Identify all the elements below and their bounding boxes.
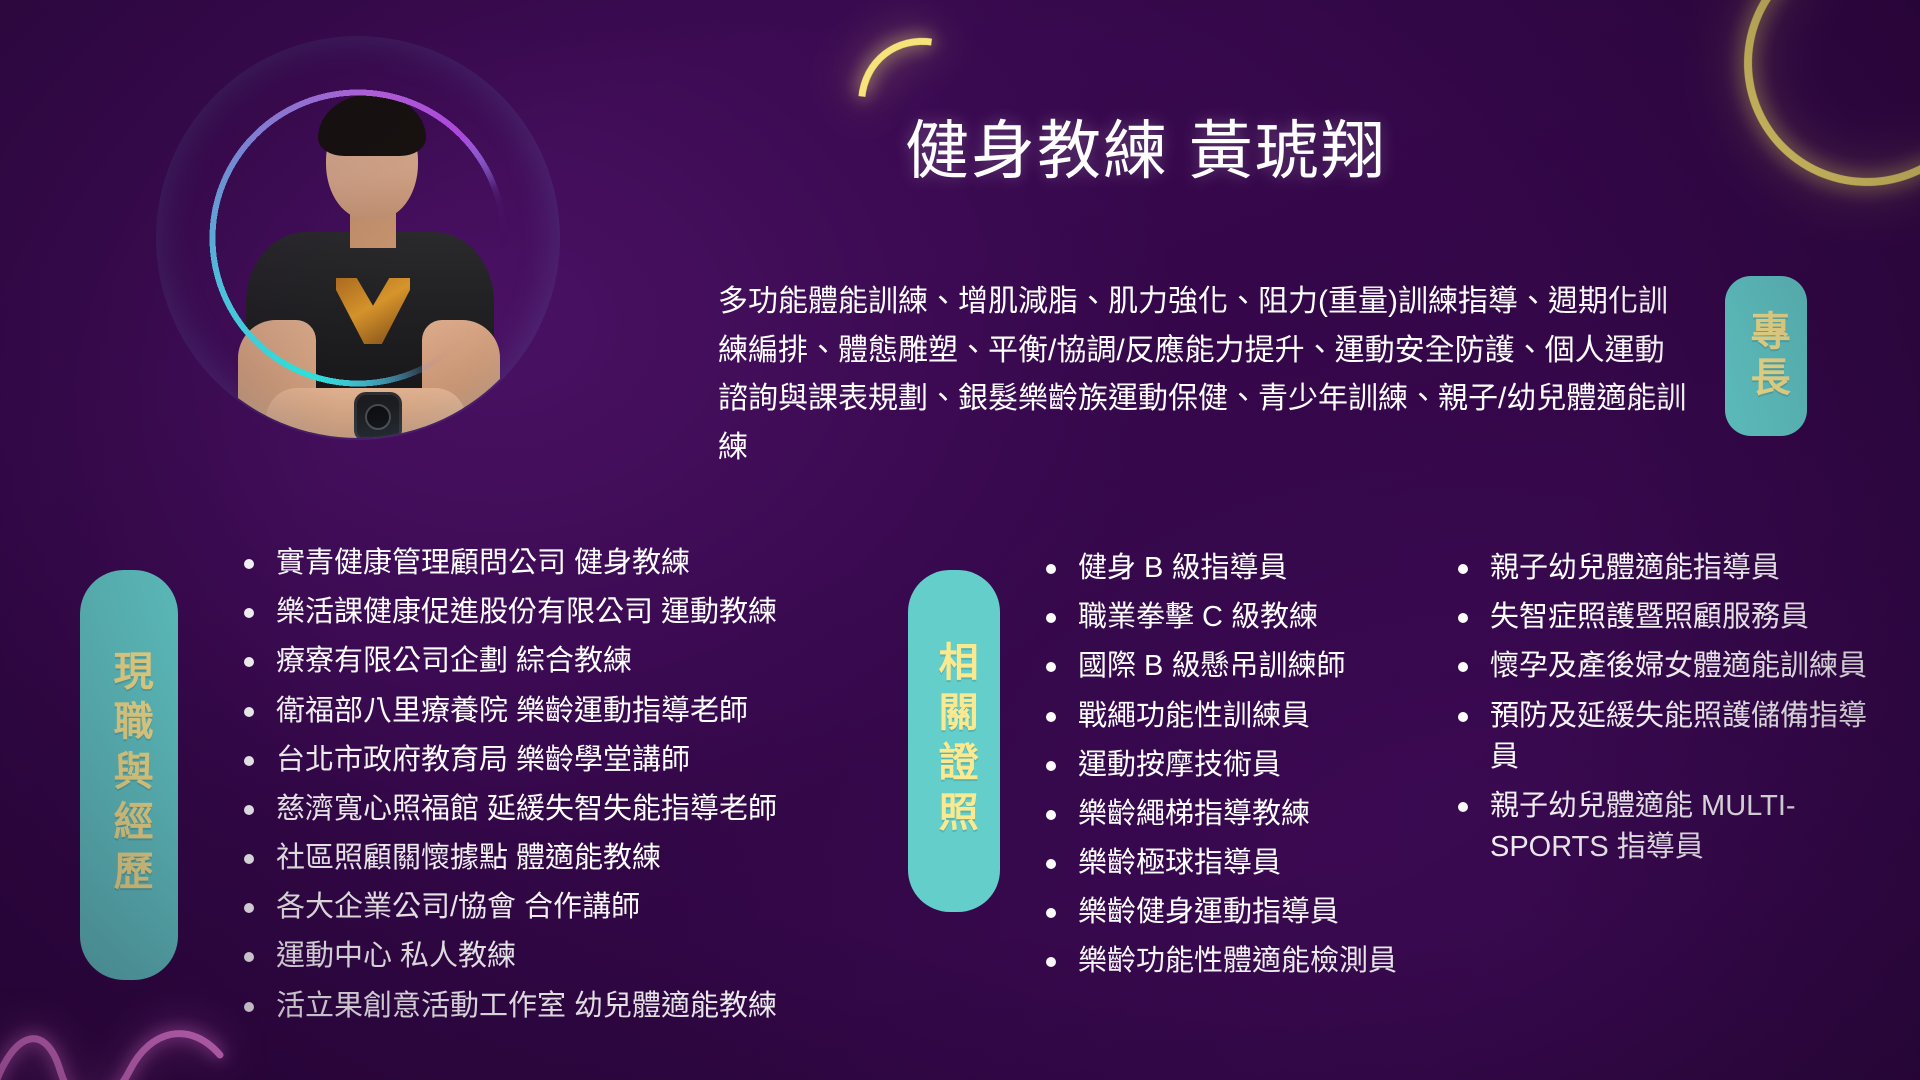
experience-list-item: 活立果創意活動工作室 幼兒體適能教練 — [270, 986, 920, 1027]
certification-list-item: 職業拳擊 C 級教練 — [1072, 597, 1472, 638]
badge-certifications: 相關證照 — [908, 570, 1000, 912]
badge-specialty: 專長 — [1725, 276, 1807, 436]
experience-list-item: 衛福部八里療養院 樂齡運動指導老師 — [270, 691, 920, 732]
certification-list-column-2: 親子幼兒體適能指導員失智症照護暨照顧服務員懷孕及產後婦女體適能訓練員預防及延緩失… — [1450, 548, 1884, 876]
ring-inner-glow — [156, 36, 560, 440]
certification-list-item: 親子幼兒體適能 MULTI-SPORTS 指導員 — [1484, 786, 1884, 868]
experience-list-item: 實青健康管理顧問公司 健身教練 — [270, 543, 920, 584]
experience-list-item: 各大企業公司/協會 合作講師 — [270, 887, 920, 928]
certification-list-item: 國際 B 級懸吊訓練師 — [1072, 646, 1472, 687]
experience-list-item: 慈濟寬心照福館 延緩失智失能指導老師 — [270, 789, 920, 830]
experience-list: 實青健康管理顧問公司 健身教練樂活課健康促進股份有限公司 運動教練療寮有限公司企… — [236, 543, 920, 1035]
coach-portrait — [148, 28, 568, 448]
certification-list-item: 樂齡健身運動指導員 — [1072, 892, 1472, 933]
badge-certifications-label: 相關證照 — [930, 641, 977, 841]
certification-list-item: 親子幼兒體適能指導員 — [1484, 548, 1884, 589]
experience-list-item: 台北市政府教育局 樂齡學堂講師 — [270, 740, 920, 781]
certification-list-item: 戰繩功能性訓練員 — [1072, 696, 1472, 737]
certification-list-item: 樂齡極球指導員 — [1072, 843, 1472, 884]
experience-list-item: 運動中心 私人教練 — [270, 936, 920, 977]
page-title: 健身教練 黃琥翔 — [905, 100, 1387, 192]
badge-specialty-label: 專長 — [1742, 310, 1789, 402]
experience-list-item: 樂活課健康促進股份有限公司 運動教練 — [270, 592, 920, 633]
certification-list-item: 樂齡繩梯指導教練 — [1072, 794, 1472, 835]
certification-list-column-1: 健身 B 級指導員職業拳擊 C 級教練國際 B 級懸吊訓練師戰繩功能性訓練員運動… — [1038, 548, 1472, 991]
profile-slide: 健身教練 黃琥翔 多功能體能訓練、增肌減脂、肌力強化、阻力(重量)訓練指導、週期… — [0, 0, 1920, 1080]
badge-experience: 現職與經歷 — [80, 570, 178, 980]
certification-list-item: 運動按摩技術員 — [1072, 745, 1472, 786]
certification-list-item: 預防及延緩失能照護儲備指導員 — [1484, 696, 1884, 778]
certification-list-item: 樂齡功能性體適能檢測員 — [1072, 941, 1472, 982]
experience-list-item: 療寮有限公司企劃 綜合教練 — [270, 641, 920, 682]
certification-list-item: 懷孕及產後婦女體適能訓練員 — [1484, 646, 1884, 687]
certification-list-item: 失智症照護暨照顧服務員 — [1484, 597, 1884, 638]
specialty-description: 多功能體能訓練、增肌減脂、肌力強化、阻力(重量)訓練指導、週期化訓練編排、體態雕… — [718, 278, 1693, 472]
badge-experience-label: 現職與經歷 — [105, 650, 152, 900]
certification-list-item: 健身 B 級指導員 — [1072, 548, 1472, 589]
experience-list-item: 社區照顧關懷據點 體適能教練 — [270, 838, 920, 879]
